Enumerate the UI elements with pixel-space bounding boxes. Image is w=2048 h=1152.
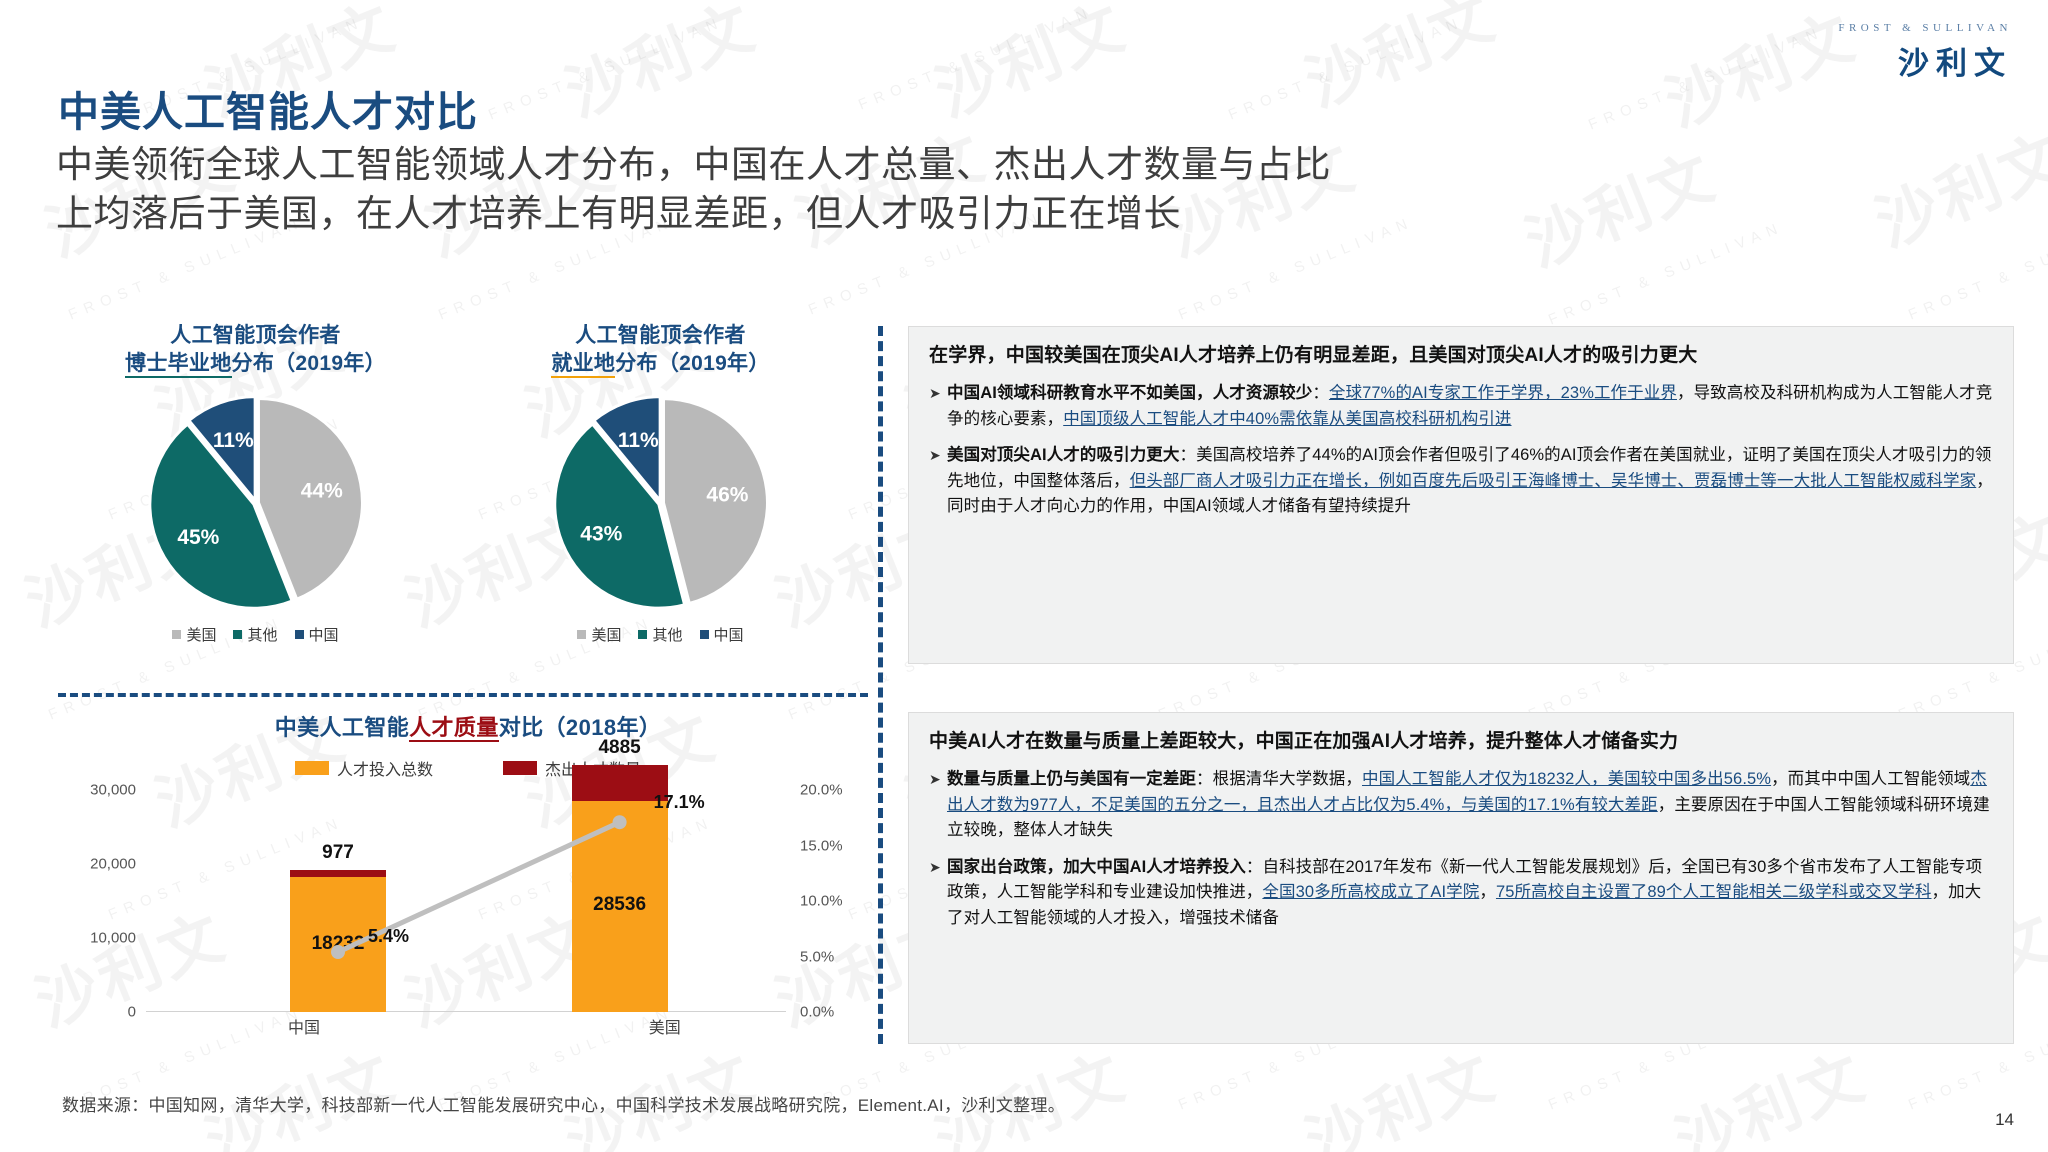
pie-legend-item: 美国 — [577, 624, 621, 645]
pie-title-line-1: 人工智能顶会作者 — [58, 322, 453, 350]
watermark-text: FROST & SULLIVAN — [486, 13, 726, 123]
pie-legend-label: 美国 — [591, 627, 621, 644]
bullet-item: ➤数量与质量上仍与美国有一定差距：根据清华大学数据，中国人工智能人才仅为1823… — [929, 767, 1993, 844]
y2-axis-tick-label: 20.0% — [800, 782, 843, 799]
bullet-text: 数量与质量上仍与美国有一定差距：根据清华大学数据，中国人工智能人才仅为18232… — [947, 767, 1993, 844]
watermark-text: 沙利文 — [1650, 0, 1867, 144]
bar-legend-item: 人才投入总数 — [295, 756, 433, 780]
line-marker — [331, 945, 345, 959]
pie-slice-label: 43% — [580, 523, 622, 546]
pie-title-rest: 分布（2019年） — [232, 352, 386, 375]
pie-graphic: 44%45%11% — [58, 392, 453, 622]
watermark-text: 沙利文 — [1660, 1026, 1877, 1152]
pie-slice-label: 11% — [617, 429, 658, 452]
watermark-text: 沙利文 — [1290, 1026, 1507, 1152]
legend-swatch-icon — [295, 761, 329, 775]
pie-title-line-2: 就业地分布（2019年） — [463, 350, 858, 378]
y-axis-tick-label: 20,000 — [90, 856, 136, 873]
vertical-divider — [878, 326, 883, 1044]
panel-bottom-heading: 中美AI人才在数量与质量上差距较大，中国正在加强AI人才培养，提升整体人才储备实… — [929, 729, 1993, 756]
pie-legend-item: 美国 — [172, 624, 216, 645]
pie-legend: 美国其他中国 — [58, 624, 453, 645]
pie-title-line-2: 博士毕业地分布（2019年） — [58, 350, 453, 378]
pie-legend-label: 其他 — [247, 627, 277, 644]
y-axis-tick-label: 10,000 — [90, 930, 136, 947]
page-number: 14 — [1995, 1110, 2014, 1130]
legend-swatch-icon — [295, 630, 304, 639]
bar-title-highlight: 人才质量 — [409, 715, 499, 742]
line-marker — [613, 815, 627, 829]
bullet-lead-in: 美国对顶尖AI人才的吸引力更大 — [947, 446, 1180, 464]
bar-title-pre: 中美人工智能 — [275, 715, 409, 740]
bar-chart-legend: 人才投入总数杰出人才数量 — [58, 756, 878, 780]
bullet-body: ： — [1312, 384, 1329, 402]
y2-axis-tick-label: 15.0% — [800, 837, 843, 854]
page-title: 中美人工智能人才对比 — [58, 78, 478, 138]
bullet-item: ➤中国AI领域科研教育水平不如美国，人才资源较少：全球77%的AI专家工作于学界… — [929, 381, 1993, 432]
panel-top-bullet-list: ➤中国AI领域科研教育水平不如美国，人才资源较少：全球77%的AI专家工作于学界… — [929, 381, 1993, 520]
plot-area: 97718232488528536 — [146, 790, 786, 1012]
watermark-text: FROST & SULLIVAN — [1906, 213, 2048, 323]
panel-bottom-bullet-list: ➤数量与质量上仍与美国有一定差距：根据清华大学数据，中国人工智能人才仅为1823… — [929, 767, 1993, 931]
source-note: 数据来源：中国知网，清华大学，科技部新一代人工智能发展研究中心，中国科学技术发展… — [62, 1091, 1065, 1116]
bullet-item: ➤美国对顶尖AI人才的吸引力更大：美国高校培养了44%的AI顶会作者但吸引了46… — [929, 443, 1993, 520]
bullet-lead-in: 国家出台政策，加大中国AI人才培养投入 — [947, 858, 1246, 876]
bullet-body: ：根据清华大学数据， — [1196, 770, 1362, 788]
watermark-text: 沙利文 — [920, 0, 1137, 134]
pie-legend-label: 中国 — [309, 627, 339, 644]
pie-slice-label: 11% — [212, 429, 253, 452]
legend-swatch-icon — [577, 630, 586, 639]
category-label-美国: 美国 — [605, 1014, 725, 1038]
percent-data-label: 17.1% — [654, 792, 705, 813]
pie-slice-label: 44% — [300, 480, 342, 503]
pie-title-rest: 分布（2019年） — [615, 352, 769, 375]
pie-title-emphasis: 就业地 — [551, 352, 615, 378]
pie-legend-label: 美国 — [186, 627, 216, 644]
watermark-text: 沙利文 — [1860, 106, 2048, 264]
bullet-body: ，而其中中国人工智能领域 — [1771, 770, 1970, 788]
bullet-arrow-icon: ➤ — [929, 767, 947, 844]
y2-axis-tick-label: 10.0% — [800, 893, 843, 910]
pie-chart-title: 人工智能顶会作者就业地分布（2019年） — [463, 322, 858, 378]
bar-value-outstanding: 4885 — [572, 737, 668, 759]
watermark-text: 沙利文 — [190, 1026, 407, 1152]
horizontal-divider — [58, 693, 868, 697]
bullet-lead-in: 数量与质量上仍与美国有一定差距 — [947, 770, 1196, 788]
pie-legend: 美国其他中国 — [463, 624, 858, 645]
bullet-text: 国家出台政策，加大中国AI人才培养投入：自科技部在2017年发布《新一代人工智能… — [947, 855, 1993, 932]
bullet-lead-in: 中国AI领域科研教育水平不如美国，人才资源较少 — [947, 384, 1312, 402]
pie-title-line-1: 人工智能顶会作者 — [463, 322, 858, 350]
bullet-highlight: 全国30多所高校成立了AI学院 — [1262, 883, 1479, 901]
pie-svg: 46%43%11% — [550, 392, 772, 614]
category-label-中国: 中国 — [244, 1014, 364, 1038]
watermark-text: FROST & SULLIVAN — [856, 3, 1096, 113]
panel-top-heading: 在学界，中国较美国在顶尖AI人才培养上仍有明显差距，且美国对顶尖AI人才的吸引力… — [929, 343, 1993, 370]
brand-logo: FROST & SULLIVAN 沙利文 — [1838, 22, 2012, 83]
watermark-text: FROST & SULLIVAN — [1586, 23, 1826, 133]
legend-swatch-icon — [172, 630, 181, 639]
bullet-body: ， — [1479, 883, 1496, 901]
bar-chart-title: 中美人工智能人才质量对比（2018年） — [58, 710, 878, 742]
pie-legend-item: 其他 — [638, 624, 682, 645]
watermark-text: FROST & SULLIVAN — [1546, 218, 1786, 328]
bullet-arrow-icon: ➤ — [929, 381, 947, 432]
legend-swatch-icon — [638, 630, 647, 639]
insight-panel-quantity-quality: 中美AI人才在数量与质量上差距较大，中国正在加强AI人才培养，提升整体人才储备实… — [908, 712, 2014, 1044]
pie-chart-title: 人工智能顶会作者博士毕业地分布（2019年） — [58, 322, 453, 378]
subtitle-line-2: 上均落后于美国，在人才培养上有明显差距，但人才吸引力正在增长 — [56, 189, 1576, 238]
y-axis-tick-label: 30,000 — [90, 782, 136, 799]
bullet-arrow-icon: ➤ — [929, 855, 947, 932]
insight-panel-academia: 在学界，中国较美国在顶尖AI人才培养上仍有明显差距，且美国对顶尖AI人才的吸引力… — [908, 326, 2014, 664]
bullet-arrow-icon: ➤ — [929, 443, 947, 520]
pie-svg: 44%45%11% — [145, 392, 367, 614]
y-axis-tick-label: 0 — [128, 1004, 136, 1021]
pie-legend-label: 中国 — [714, 627, 744, 644]
bullet-highlight: 但头部厂商人才吸引力正在增长，例如百度先后吸引王海峰博士、吴华博士、贾磊博士等一… — [1130, 472, 1977, 490]
y2-axis-tick-label: 0.0% — [800, 1004, 834, 1021]
pie-legend-item: 其他 — [233, 624, 277, 645]
bullet-text: 中国AI领域科研教育水平不如美国，人才资源较少：全球77%的AI专家工作于学界，… — [947, 381, 1993, 432]
bullet-highlight: 全球77%的AI专家工作于学界，23%工作于业界 — [1329, 384, 1677, 402]
bar-chart-section: 中美人工智能人才质量对比（2018年） 人才投入总数杰出人才数量 30,0002… — [58, 710, 878, 1040]
pie-slice-label: 46% — [706, 484, 748, 507]
watermark-text: 沙利文 — [920, 1026, 1137, 1152]
legend-swatch-icon — [700, 630, 709, 639]
bullet-highlight: 75所高校自主设置了89个人工智能相关二级学科或交叉学科 — [1496, 883, 1932, 901]
pie-legend-item: 中国 — [295, 624, 339, 645]
bullet-highlight: 中国人工智能人才仅为18232人，美国较中国多出56.5% — [1362, 770, 1771, 788]
bar-legend-label: 人才投入总数 — [337, 756, 433, 780]
brand-chinese: 沙利文 — [1838, 38, 2012, 83]
bullet-text: 美国对顶尖AI人才的吸引力更大：美国高校培养了44%的AI顶会作者但吸引了46%… — [947, 443, 1993, 520]
pie-legend-item: 中国 — [700, 624, 744, 645]
bullet-item: ➤国家出台政策，加大中国AI人才培养投入：自科技部在2017年发布《新一代人工智… — [929, 855, 1993, 932]
legend-swatch-icon — [503, 761, 537, 775]
subtitle-line-1: 中美领衔全球人工智能领域人才分布，中国在人才总量、杰出人才数量与占比 — [56, 140, 1576, 189]
watermark-text: 沙利文 — [1290, 0, 1507, 124]
watermark-text: 沙利文 — [550, 1026, 767, 1152]
brand-latin: FROST & SULLIVAN — [1838, 22, 2012, 34]
page-subtitle: 中美领衔全球人工智能领域人才分布，中国在人才总量、杰出人才数量与占比 上均落后于… — [56, 140, 1576, 238]
watermark-text: FROST & SULLIVAN — [1226, 13, 1466, 123]
pie-graphic: 46%43%11% — [463, 392, 858, 622]
pie-chart-block-1: 人工智能顶会作者博士毕业地分布（2019年）44%45%11%美国其他中国 — [58, 322, 453, 645]
pie-chart-block-2: 人工智能顶会作者就业地分布（2019年）46%43%11%美国其他中国 — [463, 322, 858, 645]
bar-chart-plot: 30,00020,00010,0000 0.0%5.0%10.0%15.0%20… — [58, 790, 878, 1040]
pie-slice-label: 45% — [177, 526, 219, 549]
watermark-text: 沙利文 — [550, 0, 767, 134]
percentage-line-series — [146, 790, 786, 1012]
pie-charts-section: 人工智能顶会作者博士毕业地分布（2019年）44%45%11%美国其他中国人工智… — [58, 322, 868, 645]
pie-chart-row: 人工智能顶会作者博士毕业地分布（2019年）44%45%11%美国其他中国人工智… — [58, 322, 868, 645]
pie-legend-label: 其他 — [652, 627, 682, 644]
percent-data-label: 5.4% — [368, 926, 409, 947]
bullet-highlight: 中国顶级人工智能人才中40%需依靠从美国高校科研机构引进 — [1063, 410, 1511, 428]
pie-title-emphasis: 博士毕业地 — [125, 352, 232, 378]
legend-swatch-icon — [233, 630, 242, 639]
y2-axis-tick-label: 5.0% — [800, 948, 834, 965]
